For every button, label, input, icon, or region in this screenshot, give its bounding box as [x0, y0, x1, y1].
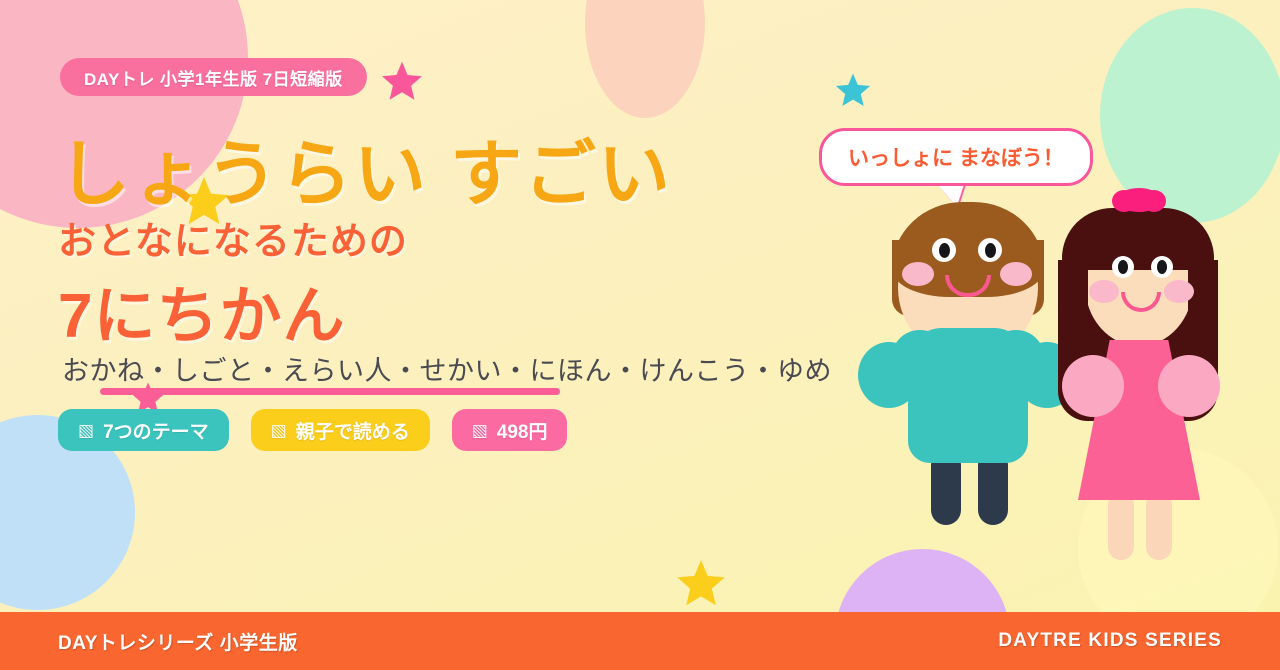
girl-bangs	[1062, 208, 1214, 270]
girl-leg-right	[1146, 492, 1172, 560]
title-duration: 7にちかん	[58, 265, 345, 355]
footer-brand-label: DAYTRE KIDS SERIES	[998, 630, 1222, 652]
badge-price-icon: ▧	[472, 422, 488, 439]
girl-cheek-left	[1089, 280, 1119, 303]
boy-pupil-right	[985, 243, 996, 258]
speech-bubble: いっしょに まなぼう！	[819, 128, 1093, 186]
girl-cheek-right	[1164, 280, 1194, 303]
badge-parent-child-icon: ▧	[271, 422, 287, 439]
badge-price-label: 498円	[497, 417, 548, 444]
girl-arm-right	[1158, 355, 1220, 417]
girl-hair-bow	[1117, 188, 1161, 212]
character-illustration	[840, 180, 1260, 580]
series-tagline-pill: DAYトレ 小学1年生版 7日短縮版	[60, 58, 367, 96]
boy-shirt	[908, 328, 1028, 463]
topic-underline	[100, 388, 560, 395]
footer-series-label: DAYトレシリーズ 小学生版	[58, 628, 298, 655]
girl-pupil-right	[1157, 260, 1167, 274]
girl-pupil-left	[1118, 260, 1128, 274]
star-cyan-top-icon	[835, 72, 871, 108]
badge-parent-child: ▧ 親子で読める	[251, 409, 430, 451]
footer-bar: DAYトレシリーズ 小学生版 DAYTRE KIDS SERIES	[0, 612, 1280, 670]
badge-themes-icon: ▧	[78, 422, 94, 439]
badge-price: ▧ 498円	[452, 409, 568, 451]
title-main: しょうらい すごい	[58, 138, 672, 214]
badge-themes-label: 7つのテーマ	[103, 417, 209, 444]
feature-badges: ▧ 7つのテーマ ▧ 親子で読める ▧ 498円	[58, 409, 567, 451]
girl-leg-left	[1108, 492, 1134, 560]
topic-list: おかね・しごと・えらい人・せかい・にほん・けんこう・ゆめ	[62, 349, 832, 388]
girl-arm-left	[1062, 355, 1124, 417]
badge-themes: ▧ 7つのテーマ	[58, 409, 229, 451]
title-subtitle: おとなになるための	[58, 210, 408, 265]
promo-banner: DAYトレ 小学1年生版 7日短縮版 しょうらい すごい おとなになるための 7…	[0, 0, 1280, 670]
boy-cheek-right	[1000, 262, 1032, 286]
boy-pupil-left	[939, 243, 950, 258]
badge-parent-child-label: 親子で読める	[296, 417, 410, 444]
boy-cheek-left	[902, 262, 934, 286]
banner-content: DAYトレ 小学1年生版 7日短縮版 しょうらい すごい おとなになるための 7…	[0, 0, 820, 610]
